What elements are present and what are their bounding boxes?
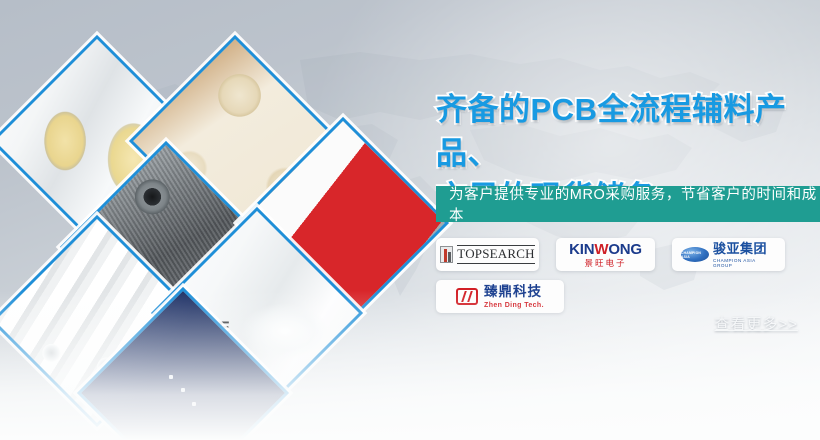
view-more-link[interactable]: 查看更多>> bbox=[714, 313, 798, 334]
kinwong-suffix: ONG bbox=[608, 241, 642, 258]
kinwong-accent: W bbox=[594, 241, 608, 258]
banner-content: 齐备的PCB全流程辅料产品、 充足的现货储备 为客户提供专业的MRO采购服务，节… bbox=[428, 0, 820, 440]
kinwong-label-cn: 景旺电子 bbox=[569, 259, 642, 268]
promo-banner: JIE 齐备的PCB全流程辅料产品、 充足的现货储备 为客户提供专业的MRO采购… bbox=[0, 0, 820, 440]
champion-asia-label-en: CHAMPION ASIA GROUP bbox=[713, 259, 776, 268]
zhending-mark-icon bbox=[456, 288, 478, 305]
partner-logo-zhen-ding[interactable]: 臻鼎科技 Zhen Ding Tech. bbox=[436, 280, 564, 313]
champion-asia-label-cn: 骏亚集团 bbox=[713, 241, 767, 256]
zhen-ding-label-en: Zhen Ding Tech. bbox=[484, 302, 544, 309]
partner-logo-row-2: 臻鼎科技 Zhen Ding Tech. bbox=[436, 280, 816, 313]
kinwong-prefix: KIN bbox=[569, 241, 594, 258]
partner-logo-champion-asia[interactable]: 骏亚集团 CHAMPION ASIA GROUP bbox=[672, 238, 785, 271]
partner-logo-kinwong[interactable]: KINWONG 景旺电子 bbox=[556, 238, 655, 271]
topsearch-mark-icon bbox=[440, 246, 453, 263]
banner-subtitle-text: 为客户提供专业的MRO采购服务，节省客户的时间和成本 bbox=[436, 183, 820, 225]
banner-subtitle-bar: 为客户提供专业的MRO采购服务，节省客户的时间和成本 bbox=[436, 186, 820, 222]
zhen-ding-label-cn: 臻鼎科技 bbox=[484, 284, 542, 299]
topsearch-label: TOPSEARCH bbox=[457, 245, 534, 263]
kinwong-label-en: KINWONG bbox=[569, 242, 642, 257]
partner-logo-topsearch[interactable]: TOPSEARCH bbox=[436, 238, 539, 271]
product-collage: JIE bbox=[0, 0, 440, 440]
partner-logo-row-1: TOPSEARCH KINWONG 景旺电子 骏亚集团 CHAMPION ASI bbox=[436, 238, 816, 271]
globe-icon bbox=[681, 247, 709, 262]
partner-logo-group: TOPSEARCH KINWONG 景旺电子 骏亚集团 CHAMPION ASI bbox=[436, 238, 816, 322]
